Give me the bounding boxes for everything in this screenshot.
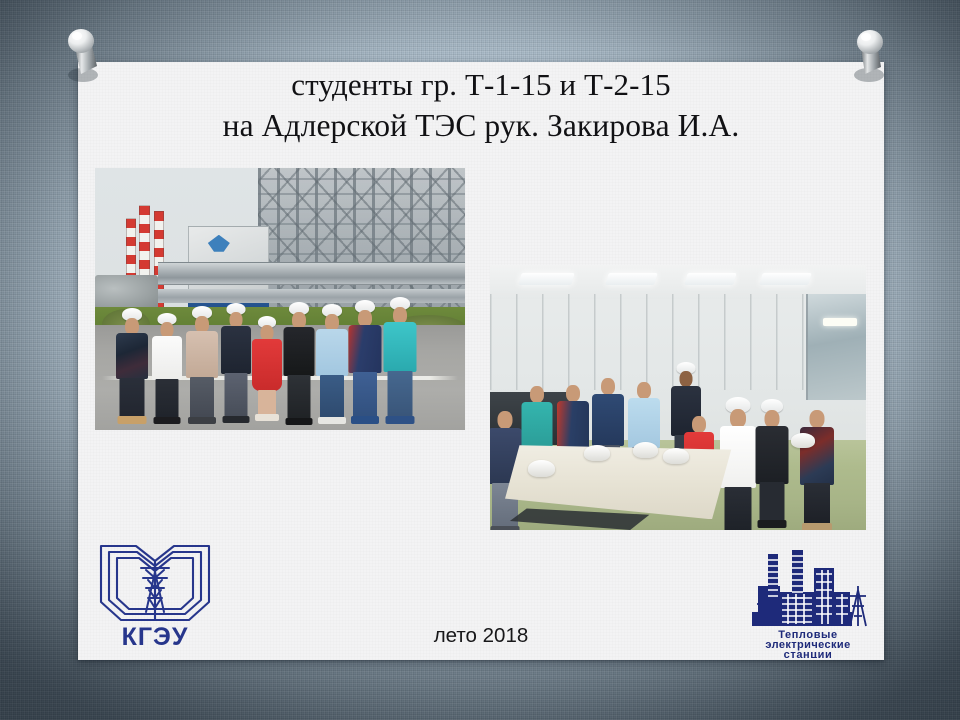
pushpin-right <box>845 26 897 88</box>
photo-right-window <box>806 294 866 400</box>
photo-right-hardhat <box>633 442 658 458</box>
photo-right-hardhat <box>584 445 610 461</box>
photo-left-pipe-bridge <box>158 289 465 303</box>
photo-right-hardhat <box>791 433 815 448</box>
title-line-1: студенты гр. Т-1-15 и Т-2-15 <box>78 64 884 105</box>
photo-left[interactable] <box>95 168 465 430</box>
title-line-2: на Адлерской ТЭС рук. Закирова И.А. <box>78 105 884 147</box>
photo-right-hardhat <box>528 460 555 477</box>
tec-logo-line-3: станции <box>784 649 833 658</box>
photo-right-ceiling-lamp <box>605 273 657 285</box>
photo-left-pipe-bridge <box>158 262 465 284</box>
photo-right-hardhat <box>663 448 689 464</box>
photo-right-ceiling-lamp <box>684 273 736 285</box>
pushpin-left <box>57 26 109 88</box>
slide-card: студенты гр. Т-1-15 и Т-2-15 на Адлерско… <box>78 62 884 660</box>
photo-right-wall-lamp <box>823 318 857 326</box>
caption-text: лето 2018 <box>78 624 884 648</box>
photo-right-ceiling-lamp <box>759 273 811 285</box>
photo-right-ceiling-lamp <box>518 273 574 285</box>
page-title: студенты гр. Т-1-15 и Т-2-15 на Адлерско… <box>78 64 884 147</box>
photo-left-storage-tanks <box>95 275 158 309</box>
photo-right[interactable] <box>490 265 866 530</box>
